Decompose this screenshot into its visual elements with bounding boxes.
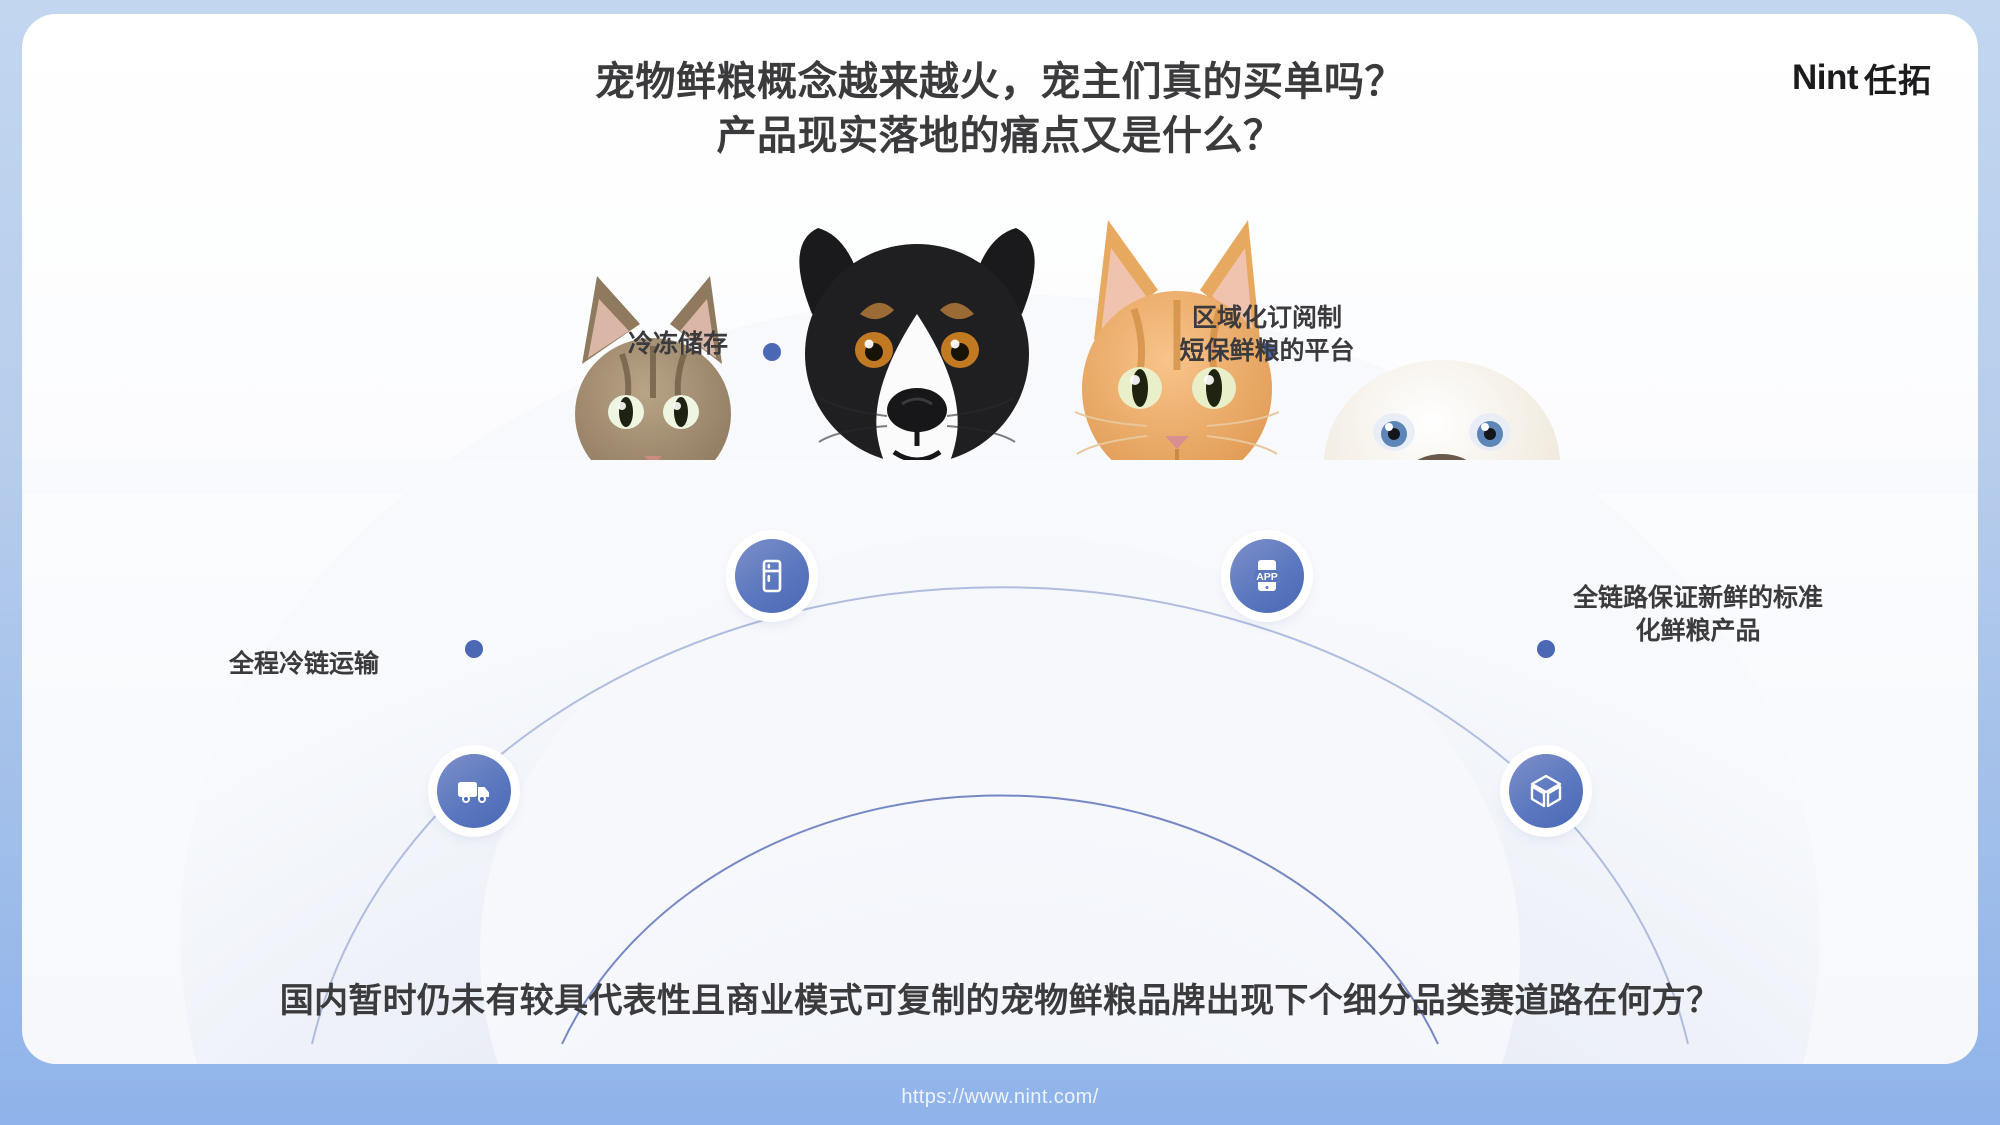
node-label-standardized-fresh-product: 全链路保证新鲜的标准 化鲜粮产品 xyxy=(1528,582,1868,648)
brand-logo: Nint 任拓 xyxy=(1792,54,1932,102)
content-card: 宠物鲜粮概念越来越火，宠主们真的买单吗？ 产品现实落地的痛点又是什么？ Nint… xyxy=(22,14,1978,1064)
truck-icon xyxy=(454,771,494,811)
truck-icon-badge[interactable] xyxy=(437,754,511,828)
box-icon-badge[interactable] xyxy=(1509,754,1583,828)
label-line-1: 全链路保证新鲜的标准 xyxy=(1528,582,1868,615)
label-line-2: 短保鲜粮的平台 xyxy=(1152,335,1382,368)
node-label-frozen-storage: 冷冻储存 xyxy=(578,328,778,361)
app-icon-text: APP xyxy=(1256,571,1278,583)
title-line-2: 产品现实落地的痛点又是什么？ xyxy=(22,110,1978,164)
node-label-cold-chain-transport: 全程冷链运输 xyxy=(204,648,404,681)
pets-photo-group xyxy=(22,164,1978,494)
app-phone-icon: APP xyxy=(1247,556,1287,596)
label-line-1: 区域化订阅制 xyxy=(1152,302,1382,335)
pet-border-collie-dog xyxy=(799,228,1034,494)
pet-tabby-cat xyxy=(575,276,731,490)
label-line-2: 化鲜粮产品 xyxy=(1528,615,1868,648)
node-label-regional-subscription-platform: 区域化订阅制 短保鲜粮的平台 xyxy=(1152,302,1382,368)
label-line-1: 冷冻储存 xyxy=(628,330,728,358)
footer-url[interactable]: https://www.nint.com/ xyxy=(0,1086,2000,1109)
logo-latin-text: Nint xyxy=(1792,58,1858,98)
title-line-1: 宠物鲜粮概念越来越火，宠主们真的买单吗？ xyxy=(595,60,1405,104)
refrigerator-icon-badge[interactable] xyxy=(735,539,809,613)
box-icon xyxy=(1525,770,1567,812)
label-line-1: 全程冷链运输 xyxy=(229,650,379,678)
infographic-root: 宠物鲜粮概念越来越火，宠主们真的买单吗？ 产品现实落地的痛点又是什么？ Nint… xyxy=(0,0,2000,1125)
logo-chinese-text: 任拓 xyxy=(1864,54,1932,102)
app-phone-icon-badge[interactable]: APP xyxy=(1230,539,1304,613)
refrigerator-icon xyxy=(753,557,791,595)
footer-caption: 国内暂时仍未有较具代表性且商业模式可复制的宠物鲜粮品牌出现下个细分品类赛道路在何… xyxy=(22,973,1978,1022)
page-title: 宠物鲜粮概念越来越火，宠主们真的买单吗？ 产品现实落地的痛点又是什么？ xyxy=(22,56,1978,163)
